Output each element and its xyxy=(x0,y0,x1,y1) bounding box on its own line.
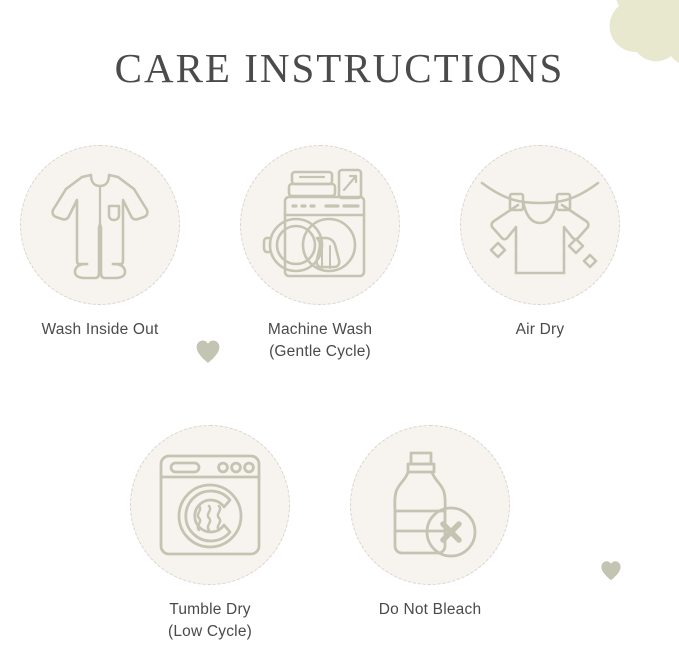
heart-accent-icon xyxy=(600,560,622,582)
no-bleach-bottle-icon xyxy=(378,449,482,561)
icon-circle-air-dry xyxy=(460,145,620,305)
tumble-dryer-icon xyxy=(157,452,263,558)
icon-circle-machine-wash xyxy=(240,145,400,305)
baby-onesie-icon xyxy=(44,166,156,284)
care-label-text: Air Dry xyxy=(516,321,565,338)
care-sublabel-text: (Gentle Cycle) xyxy=(230,341,410,363)
care-instructions-card: CARE INSTRUCTIONS xyxy=(0,0,679,668)
icon-circle-tumble-dry xyxy=(130,425,290,585)
clothesline-tshirt-icon xyxy=(478,169,602,281)
icon-circle-wash-inside-out xyxy=(20,145,180,305)
care-label-wash-inside-out: Wash Inside Out xyxy=(10,319,190,341)
care-label-machine-wash: Machine Wash (Gentle Cycle) xyxy=(230,319,410,363)
care-label-text: Machine Wash xyxy=(268,321,372,338)
icon-circle-do-not-bleach xyxy=(350,425,510,585)
care-label-text: Tumble Dry xyxy=(169,601,251,618)
care-item-air-dry: Air Dry xyxy=(450,145,630,341)
care-item-do-not-bleach: Do Not Bleach xyxy=(340,425,520,621)
care-item-machine-wash: Machine Wash (Gentle Cycle) xyxy=(230,145,410,363)
care-label-tumble-dry: Tumble Dry (Low Cycle) xyxy=(120,599,300,643)
care-label-air-dry: Air Dry xyxy=(450,319,630,341)
care-item-wash-inside-out: Wash Inside Out xyxy=(10,145,190,341)
care-item-tumble-dry: Tumble Dry (Low Cycle) xyxy=(120,425,300,643)
washing-machine-icon xyxy=(260,166,380,284)
heart-divider-icon xyxy=(195,339,221,365)
care-label-text: Do Not Bleach xyxy=(379,601,482,618)
care-label-text: Wash Inside Out xyxy=(41,321,158,338)
page-title: CARE INSTRUCTIONS xyxy=(0,44,679,92)
care-sublabel-text: (Low Cycle) xyxy=(120,621,300,643)
care-label-do-not-bleach: Do Not Bleach xyxy=(340,599,520,621)
